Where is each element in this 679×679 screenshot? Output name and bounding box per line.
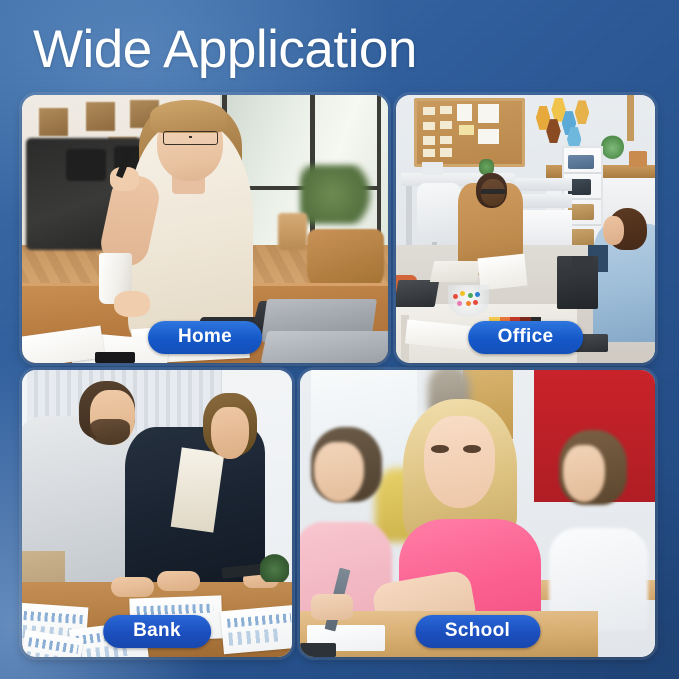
office-candy [453,294,458,299]
school-desk-item [300,643,336,657]
home-person-glasses [163,131,218,144]
home-cushion [66,149,106,181]
office-desk-leg [406,186,411,245]
office-shelf-row [564,172,601,174]
office-person-tan-glasses [481,189,504,194]
office-person-blue-face [603,216,624,245]
panel-home: Home [22,95,388,363]
office-pinned-note [423,122,435,130]
home-wall-frame [84,100,117,132]
office-candy [460,291,465,296]
bank-succulent-plant [260,554,290,583]
home-window-greenery [300,165,381,224]
panel-label-school: School [415,615,540,648]
office-pinned-note [423,136,435,144]
office-shelf-books [568,155,594,169]
school-girl-face [424,416,495,508]
school-child-left-face [314,442,364,502]
school-girl-eye [463,445,481,454]
office-pinned-note [440,136,452,144]
home-stool [278,213,307,251]
panel-school: School [300,370,655,657]
photo-bank [22,370,292,657]
panel-label-office: Office [468,321,584,354]
bank-chart-document [220,605,292,654]
office-candy [473,300,478,305]
office-paper-tray [515,194,572,207]
office-candy [468,293,473,298]
bank-person-right-face [211,407,249,459]
office-pinned-note [423,149,435,157]
office-pinned-note [478,129,499,144]
office-pinned-note [457,104,472,121]
office-cork-board [414,98,525,168]
office-pinned-note [440,148,452,156]
office-desk-item [422,162,443,175]
office-counter-pot [629,151,647,167]
home-person-hair-top [150,100,227,132]
home-phone [95,352,135,363]
home-person-hand [114,291,151,318]
bank-person-right-hand [157,571,200,591]
home-wall-frame [37,106,70,138]
panel-office: Office [396,95,655,363]
office-notebook [430,261,481,282]
office-wall-hook [627,95,635,141]
school-child-right-face [563,445,606,502]
office-potted-plant [601,135,624,159]
office-laptop-left [396,280,440,307]
bank-person-left-hand [111,577,154,597]
office-drawer-unit [515,210,572,248]
office-pinned-note [440,106,452,114]
panel-bank: Bank [22,370,292,657]
office-candy [457,301,462,306]
office-paper-tray [515,178,572,191]
office-pinned-note [423,107,435,115]
office-mouse [572,256,593,267]
photo-school [300,370,655,657]
office-pinned-note [478,104,499,123]
office-candy [466,301,471,306]
page-title: Wide Application [33,19,417,81]
home-laptop-base [260,331,388,363]
panel-label-home: Home [148,321,262,354]
office-candy [475,292,480,297]
school-child-left-hand [311,594,354,620]
office-pinned-note [440,121,452,129]
panel-label-bank: Bank [103,615,211,648]
office-desk-chair [417,183,461,250]
bank-person-left-beard [90,419,131,445]
office-shelf-basket [568,204,594,221]
office-pinned-note [459,125,474,135]
